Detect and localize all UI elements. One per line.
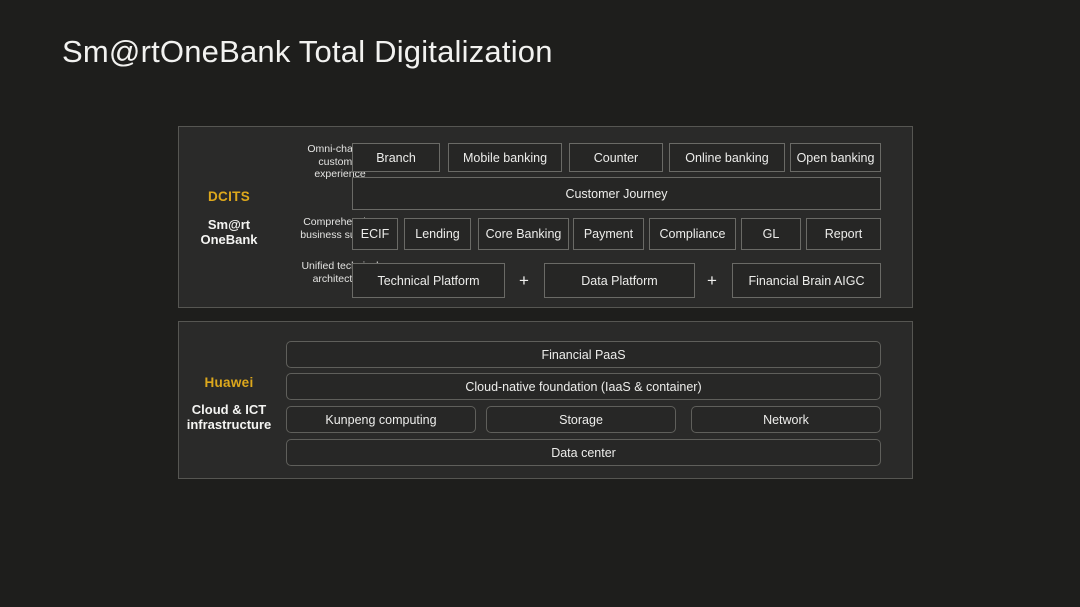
huawei-infrastructure-panel: Huawei Cloud & ICT infrastructure Financ… [178, 321, 913, 479]
huawei-brand-column: Huawei Cloud & ICT infrastructure [179, 322, 279, 478]
channel-box-counter[interactable]: Counter [569, 143, 663, 172]
channel-box-mobile-banking[interactable]: Mobile banking [448, 143, 562, 172]
smartonebank-brand-line1: Sm@rt [179, 217, 279, 232]
dcits-brand-column: DCITS Sm@rt OneBank [179, 127, 279, 307]
business-box-lending[interactable]: Lending [404, 218, 471, 250]
infra-box-storage[interactable]: Storage [486, 406, 676, 433]
channel-box-branch[interactable]: Branch [352, 143, 440, 172]
infra-box-network[interactable]: Network [691, 406, 881, 433]
business-box-report[interactable]: Report [806, 218, 881, 250]
infra-box-kunpeng[interactable]: Kunpeng computing [286, 406, 476, 433]
business-box-ecif[interactable]: ECIF [352, 218, 398, 250]
cloud-ict-line2: infrastructure [179, 417, 279, 432]
channel-box-open-banking[interactable]: Open banking [790, 143, 881, 172]
business-box-gl[interactable]: GL [741, 218, 801, 250]
platform-box-financial-brain[interactable]: Financial Brain AIGC [732, 263, 881, 298]
platform-box-technical[interactable]: Technical Platform [352, 263, 505, 298]
huawei-brand-label: Huawei [179, 375, 279, 390]
dcits-brand-label: DCITS [179, 189, 279, 204]
infra-box-data-center[interactable]: Data center [286, 439, 881, 466]
plus-separator-icon-1: + [514, 263, 534, 298]
business-box-core-banking[interactable]: Core Banking [478, 218, 569, 250]
channel-box-online-banking[interactable]: Online banking [669, 143, 785, 172]
dcits-architecture-panel: DCITS Sm@rt OneBank Omni-channel custome… [178, 126, 913, 308]
business-box-payment[interactable]: Payment [573, 218, 644, 250]
smartonebank-brand-line2: OneBank [179, 232, 279, 247]
customer-journey-bar[interactable]: Customer Journey [352, 177, 881, 210]
infra-box-financial-paas[interactable]: Financial PaaS [286, 341, 881, 368]
page-title: Sm@rtOneBank Total Digitalization [62, 34, 553, 70]
cloud-ict-line1: Cloud & ICT [179, 402, 279, 417]
plus-separator-icon-2: + [702, 263, 722, 298]
cloud-ict-label: Cloud & ICT infrastructure [179, 402, 279, 432]
business-box-compliance[interactable]: Compliance [649, 218, 736, 250]
infra-box-cloud-native[interactable]: Cloud-native foundation (IaaS & containe… [286, 373, 881, 400]
platform-box-data[interactable]: Data Platform [544, 263, 695, 298]
smartonebank-brand-label: Sm@rt OneBank [179, 217, 279, 247]
